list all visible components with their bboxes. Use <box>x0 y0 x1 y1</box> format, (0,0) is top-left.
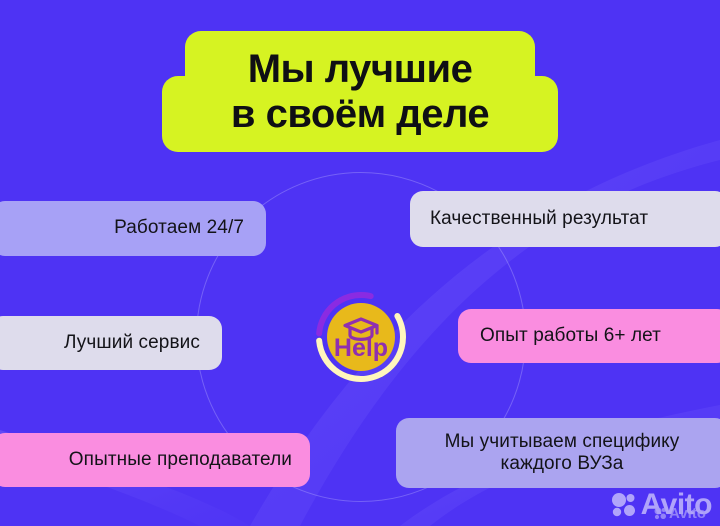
avito-brand-small-label: Avito <box>669 505 706 522</box>
avito-dots-icon-small <box>654 507 667 520</box>
avito-dots-icon <box>611 492 637 518</box>
title-line-1: Мы лучшие <box>248 48 473 91</box>
feature-quality-result: Качественный результат <box>410 191 720 247</box>
title-line-2: в своём деле <box>231 93 489 136</box>
avito-brand-text-small: Avito <box>654 505 706 522</box>
feature-experience-years: Опыт работы 6+ лет <box>458 309 720 363</box>
feature-round-the-clock: Работаем 24/7 <box>0 201 266 256</box>
avito-watermark: Avito Avito <box>611 490 712 520</box>
feature-label: Лучший сервис <box>64 332 200 354</box>
avito-brand-text: Avito <box>641 490 712 520</box>
feature-best-service: Лучший сервис <box>0 316 222 370</box>
help-logo: Help <box>313 289 409 385</box>
page-title: Мы лучшие в своём деле <box>162 31 558 152</box>
feature-label: Работаем 24/7 <box>114 217 244 239</box>
feature-label: Опыт работы 6+ лет <box>480 325 661 347</box>
feature-label-line-2: каждого ВУЗа <box>501 453 624 475</box>
feature-label-line-1: Мы учитываем специфику <box>445 431 680 453</box>
title-block: Мы лучшие в своём деле <box>0 0 720 160</box>
feature-label: Качественный результат <box>430 208 648 230</box>
feature-experienced-teachers: Опытные преподаватели <box>0 433 310 487</box>
feature-university-specifics: Мы учитываем специфику каждого ВУЗа <box>396 418 720 488</box>
logo-wordmark: Help <box>334 334 388 362</box>
feature-label: Опытные преподаватели <box>69 449 292 471</box>
promo-poster: Мы лучшие в своём деле Работаем 24/7 Кач… <box>0 0 720 526</box>
